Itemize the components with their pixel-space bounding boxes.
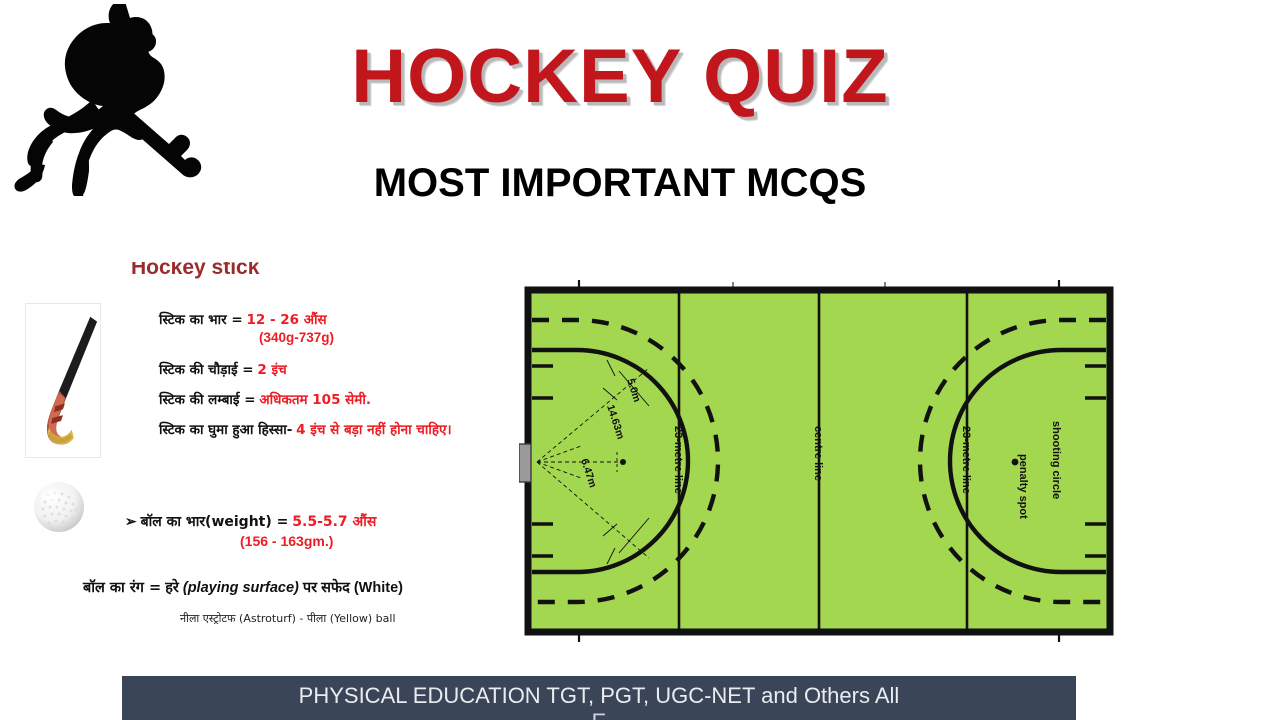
ball-colour-white-hi: सफेद <box>321 580 350 596</box>
label-shooting-circle: shooting circle <box>1050 421 1062 499</box>
stick-specs-list: स्टिक का भार = 12 - 26 औंस (340g-737g) स… <box>159 312 459 454</box>
stick-spec-label: स्टिक की चौड़ाई = <box>159 362 254 378</box>
stick-spec-label: स्टिक का भार = <box>159 312 243 328</box>
bullet-arrow-icon: ➢ <box>125 513 137 529</box>
hockey-player-silhouette-icon <box>14 4 214 196</box>
ball-weight-line: ➢ बॉल का भार(weight) = 5.5-5.7 औंस <box>125 512 455 532</box>
ball-weight-value: 5.5-5.7 औंस <box>292 514 376 530</box>
stick-spec-label: स्टिक की लम्बाई = <box>159 392 256 408</box>
stick-section-heading: Hockey stick <box>131 262 331 286</box>
stick-spec-value: अधिकतम 105 सेमी. <box>259 392 371 408</box>
stick-spec-value: 4 इंच से बड़ा नहीं होना चाहिए। <box>296 422 451 438</box>
label-centre-line: centre line <box>812 426 824 481</box>
hockey-ball-icon <box>32 479 88 535</box>
hockey-field-diagram: 23-metre line centre line 23-metre line … <box>519 276 1124 646</box>
page-title: HOCKEY QUIZ <box>330 36 910 118</box>
hockey-ball-photo <box>32 479 88 535</box>
stick-section-heading-text: Hockey stick <box>131 262 331 279</box>
ball-colour-white-en: (White) <box>354 580 403 596</box>
stick-spec-value: 12 - 26 औंस <box>246 312 326 328</box>
banner-line-2: E <box>122 709 1076 720</box>
left-goal <box>519 444 531 482</box>
ball-colour-surface-note: (playing surface) <box>183 580 299 596</box>
field-svg: 23-metre line centre line 23-metre line … <box>519 276 1124 646</box>
ball-weight-label: बॉल का भार(weight) = <box>141 514 289 530</box>
ball-weight-spec: ➢ बॉल का भार(weight) = 5.5-5.7 औंस (156 … <box>125 512 455 551</box>
stick-spec-row: स्टिक की लम्बाई = अधिकतम 105 सेमी. <box>159 392 459 408</box>
label-penalty-spot: penalty spot <box>1017 454 1029 519</box>
label-left-23-metre-line: 23-metre line <box>672 426 684 494</box>
stick-spec-row: स्टिक की चौड़ाई = 2 इंच <box>159 362 459 378</box>
stick-spec-sub: (340g-737g) <box>159 330 459 346</box>
banner-line-1: PHYSICAL EDUCATION TGT, PGT, UGC-NET and… <box>122 683 1076 709</box>
left-penalty-spot <box>620 459 626 465</box>
stick-spec-value: 2 इंच <box>257 362 286 378</box>
page-subtitle: MOST IMPORTANT MCQS <box>330 160 910 206</box>
bottom-banner: PHYSICAL EDUCATION TGT, PGT, UGC-NET and… <box>122 676 1076 720</box>
hockey-stick-photo <box>25 303 101 458</box>
hockey-stick-icon <box>26 304 100 457</box>
stick-spec-row: स्टिक का घुमा हुआ हिस्सा- 4 इंच से बड़ा … <box>159 422 454 438</box>
stick-spec-row: स्टिक का भार = 12 - 26 औंस (340g-737g) <box>159 312 459 346</box>
ball-weight-sub: (156 - 163gm.) <box>125 532 455 551</box>
stick-spec-label: स्टिक का घुमा हुआ हिस्सा- <box>159 422 292 438</box>
label-right-23-metre-line: 23-metre line <box>960 426 972 494</box>
ball-colour-spec: बॉल का रंग = हरे (playing surface) पर सफ… <box>83 579 483 597</box>
ball-colour-surface: हरे <box>165 580 179 596</box>
hockey-player-logo <box>14 4 214 196</box>
ball-astroturf-note: नीला एस्ट्रोटफ (Astroturf) - पीला (Yello… <box>180 612 510 626</box>
ball-colour-par: पर <box>303 580 317 596</box>
ball-colour-label: बॉल का रंग = <box>83 580 161 596</box>
